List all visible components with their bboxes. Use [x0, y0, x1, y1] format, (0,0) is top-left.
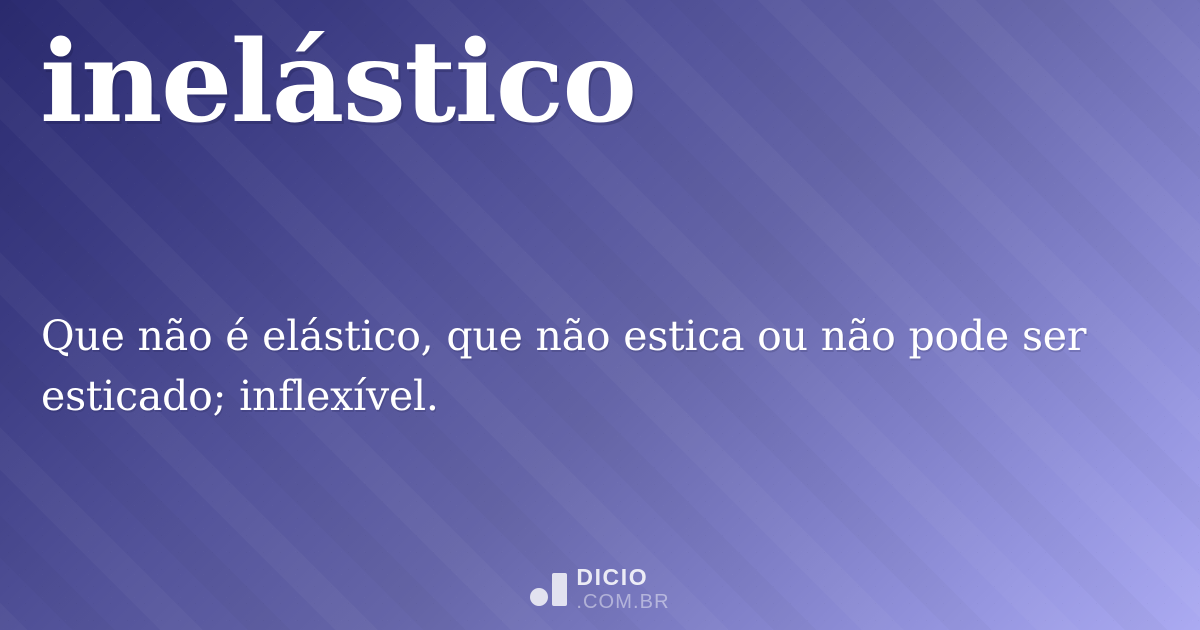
dicio-logo[interactable]: DICIO .COM.BR: [0, 566, 1200, 612]
logo-tld-label: .COM.BR: [576, 592, 669, 612]
word-definition-card: inelástico Que não é elástico, que não e…: [0, 0, 1200, 630]
definition-text: Que não é elástico, que não estica ou nã…: [41, 306, 1101, 426]
circle-icon: [530, 588, 548, 606]
rounded-rectangle-icon: [552, 573, 567, 606]
logo-mark: [530, 572, 567, 606]
logo-wordmark: DICIO .COM.BR: [576, 566, 669, 612]
headword-title: inelástico: [40, 18, 636, 148]
logo-name-label: DICIO: [576, 566, 669, 589]
card-content: inelástico Que não é elástico, que não e…: [0, 0, 1200, 630]
